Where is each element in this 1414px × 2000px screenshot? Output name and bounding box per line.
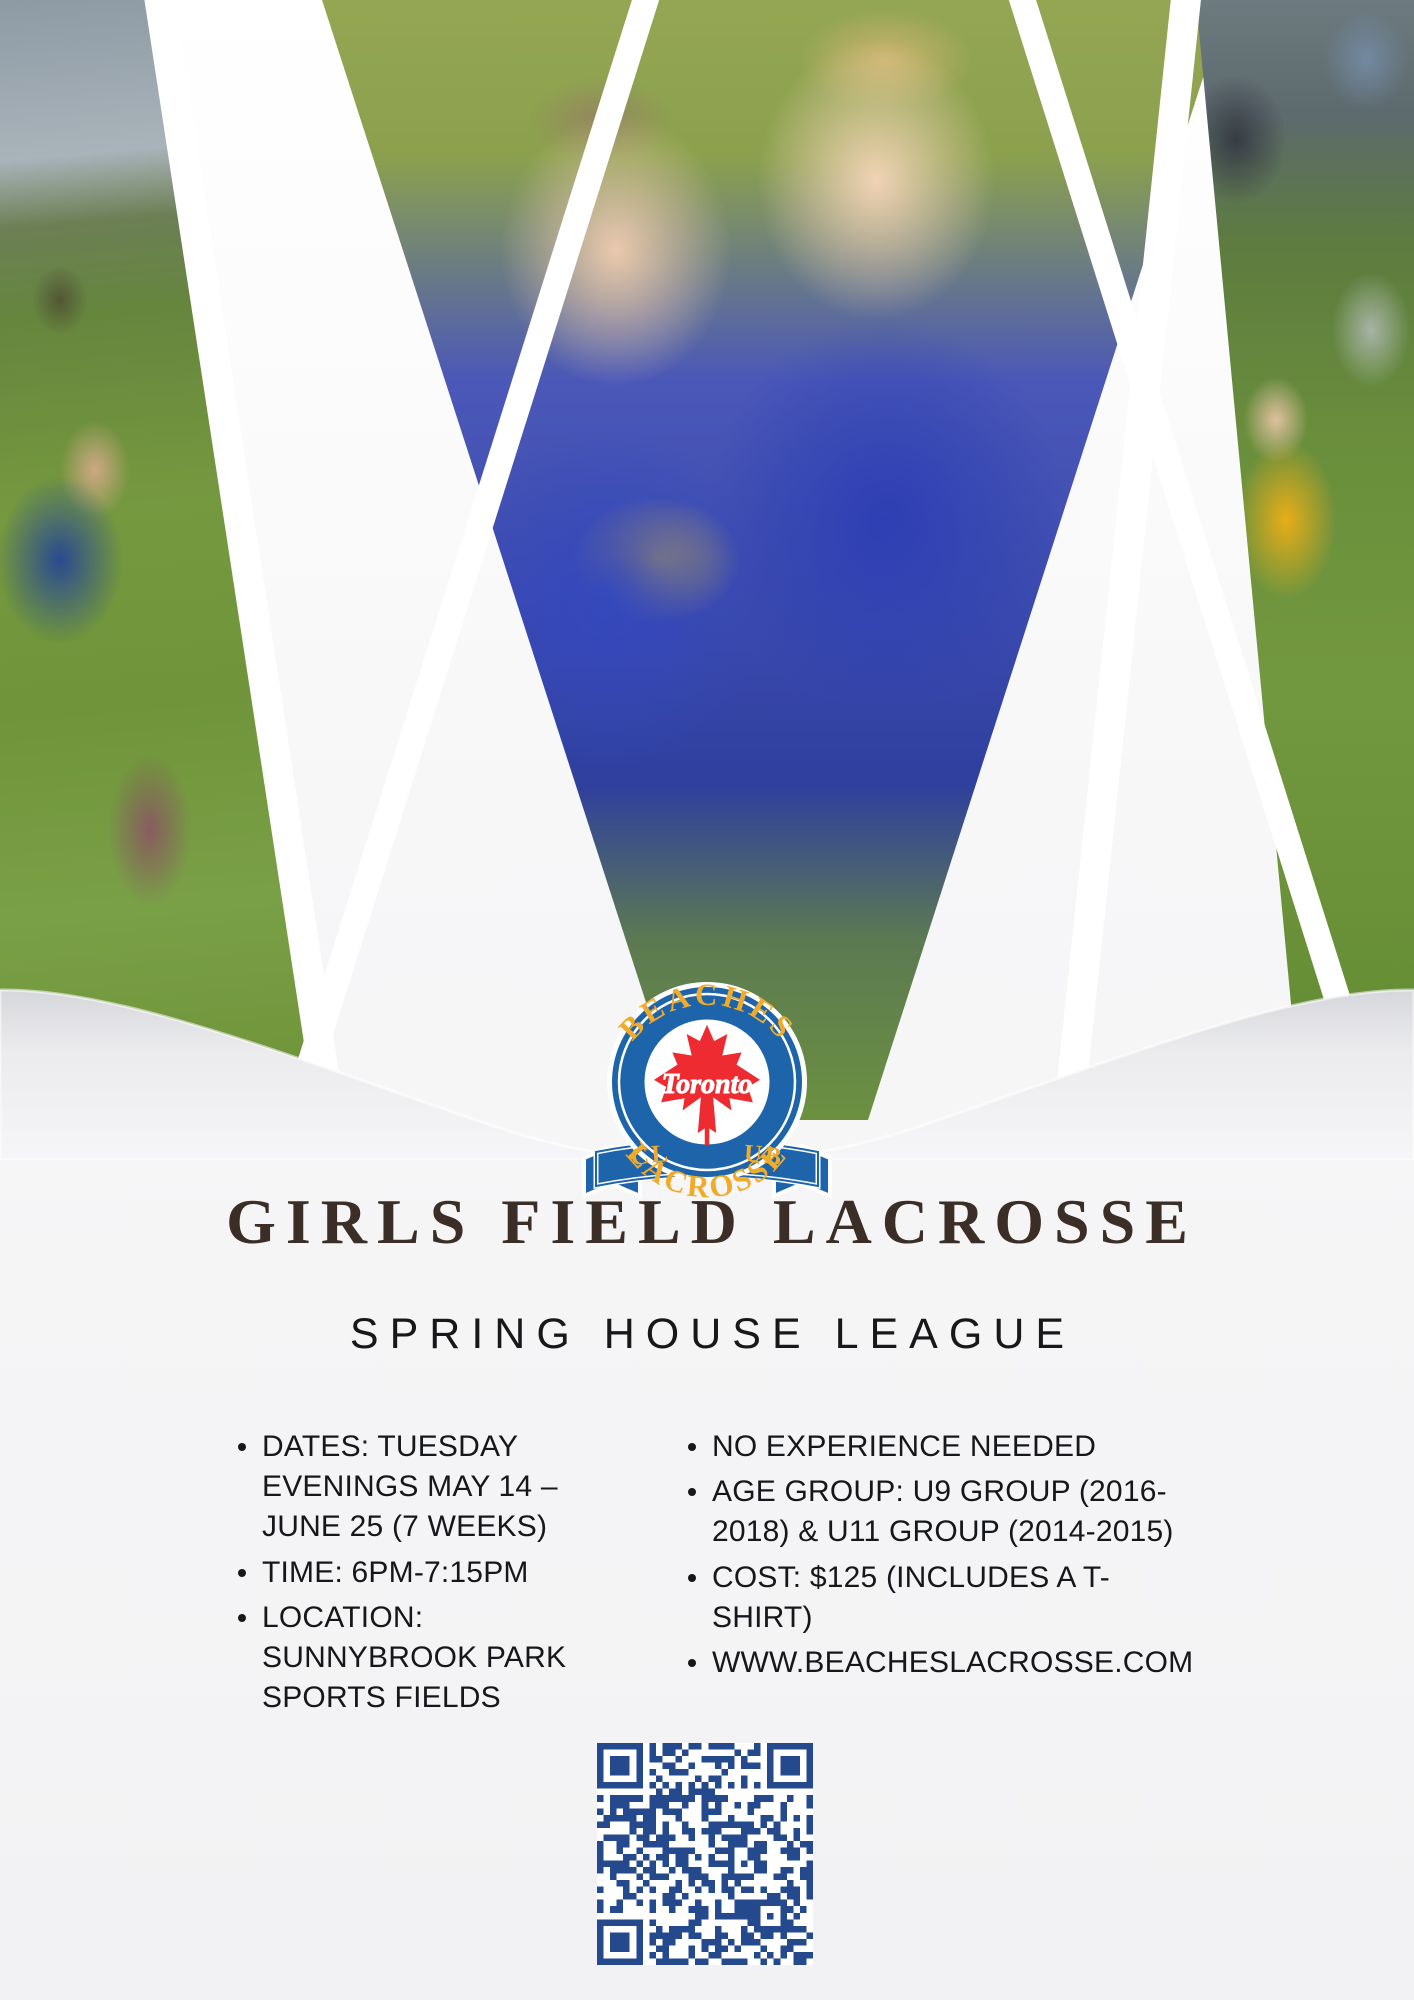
list-item: AGE GROUP: U9 GROUP (2016-2018) & U11 GR… — [682, 1472, 1182, 1552]
poster-content: GIRLS FIELD LACROSSE SPRING HOUSE LEAGUE… — [0, 1190, 1414, 1723]
details-list-left: DATES: TUESDAY EVENINGS MAY 14 – JUNE 25… — [232, 1427, 644, 1718]
list-item: LOCATION: SUNNYBROOK PARK SPORTS FIELDS — [232, 1598, 644, 1719]
list-item: COST: $125 (INCLUDES A T-SHIRT) — [682, 1558, 1182, 1638]
logo-center-text: Toronto — [662, 1069, 753, 1100]
list-item: NO EXPERIENCE NEEDED — [682, 1427, 1182, 1467]
details-column-left: DATES: TUESDAY EVENINGS MAY 14 – JUNE 25… — [232, 1427, 644, 1723]
list-item: DATES: TUESDAY EVENINGS MAY 14 – JUNE 25… — [232, 1427, 644, 1548]
details-list-right: NO EXPERIENCE NEEDED AGE GROUP: U9 GROUP… — [682, 1427, 1182, 1683]
photo-right — [1196, 0, 1414, 1120]
website-link[interactable]: WWW.BEACHESLACROSSE.COM — [682, 1643, 1182, 1683]
page-subtitle: SPRING HOUSE LEAGUE — [0, 1310, 1414, 1359]
photo-banner — [0, 0, 1414, 1120]
qr-code-image[interactable] — [597, 1743, 813, 1965]
photo-right-image — [1196, 0, 1414, 1120]
details-column-right: NO EXPERIENCE NEEDED AGE GROUP: U9 GROUP… — [682, 1427, 1182, 1723]
details-columns: DATES: TUESDAY EVENINGS MAY 14 – JUNE 25… — [0, 1427, 1414, 1723]
qr-code[interactable] — [597, 1743, 813, 1965]
club-logo: Toronto BEACHES LACROSSE CL UB — [578, 972, 836, 1212]
poster: Toronto BEACHES LACROSSE CL UB GIRLS FI — [0, 0, 1414, 2000]
list-item: TIME: 6PM-7:15PM — [232, 1553, 644, 1593]
